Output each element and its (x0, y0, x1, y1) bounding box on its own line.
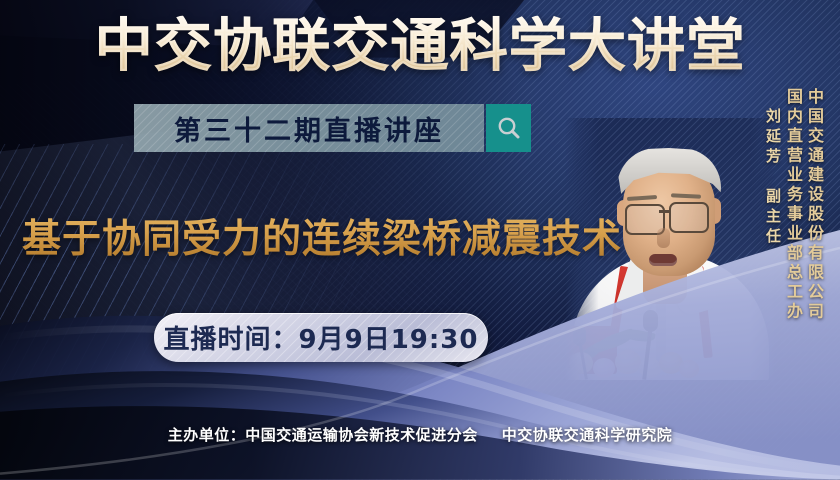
page-title: 中交协联交通科学大讲堂 (0, 16, 840, 78)
organizer-secondary: 中交协联交通科学研究院 (502, 426, 673, 444)
episode-label: 第三十二期直播讲座 (174, 109, 444, 148)
livestream-poster: 中交协联交通科学大讲堂 第三十二期直播讲座 基于协同受力的连续梁桥减震技术 直播… (0, 0, 840, 480)
speaker-name-and-position: 刘延芳 副主任 (765, 108, 780, 248)
organizer-footer: 主办单位：中国交通运输协会新技术促进分会中交协联交通科学研究院 (0, 424, 840, 445)
speaker-company: 中国交通建设股份有限公司 (806, 88, 822, 322)
glasses-bridge (659, 210, 671, 213)
search-button[interactable] (486, 104, 531, 152)
broadcast-time-text: 直播时间：9月9日19:30 (164, 319, 479, 356)
search-icon (496, 115, 522, 141)
glasses-lens-right (669, 202, 709, 233)
organizer-primary: 中国交通运输协会新技术促进分会 (245, 426, 478, 444)
broadcast-time-badge: 直播时间：9月9日19:30 (154, 313, 488, 362)
speaker-department: 国内直营业务事业部总工办 (785, 88, 801, 322)
lecture-title: 基于协同受力的连续梁桥减震技术 (22, 208, 622, 264)
speaker-info-vertical: 刘延芳 副主任 国内直营业务事业部总工办 中国交通建设股份有限公司 (765, 88, 822, 322)
episode-banner: 第三十二期直播讲座 (134, 104, 484, 152)
organizer-label: 主办单位： (168, 426, 246, 444)
